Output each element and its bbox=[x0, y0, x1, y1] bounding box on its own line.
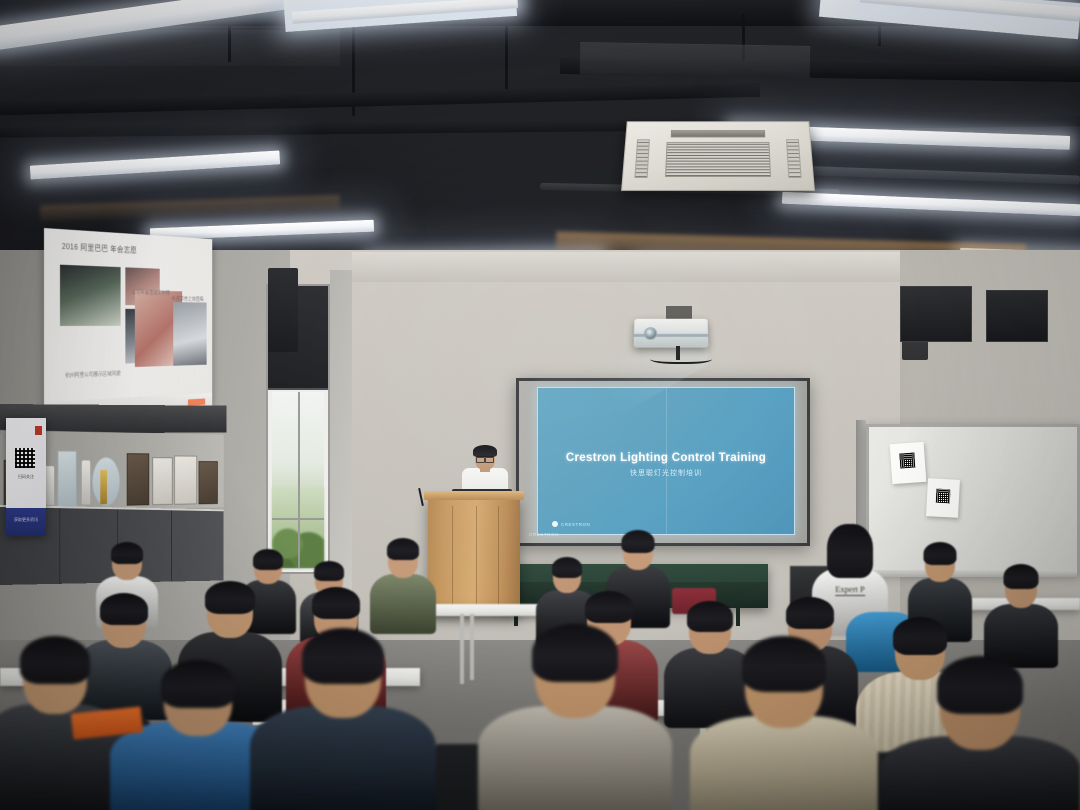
trophy bbox=[82, 460, 90, 504]
standee-line-2: 获取更多资讯 bbox=[6, 517, 46, 523]
person-hair bbox=[205, 581, 255, 614]
projector-cable bbox=[650, 352, 712, 364]
window-mullion bbox=[298, 392, 300, 568]
gold-trophy bbox=[100, 470, 107, 504]
person-torso bbox=[690, 716, 878, 810]
classroom-training-photo: 2016 阿里巴巴 年会志愿 公司年会活动工作照 年度荣誉之旅图集 杭州阿里公司… bbox=[0, 0, 1080, 810]
qr-code-icon bbox=[936, 489, 951, 504]
whiteboard[interactable] bbox=[866, 424, 1080, 574]
ceiling-light-tube bbox=[782, 192, 1080, 217]
framed-certificate bbox=[127, 453, 149, 505]
person-hair bbox=[786, 597, 834, 629]
person-hair bbox=[161, 660, 235, 708]
warm-ceiling-glow bbox=[40, 195, 340, 221]
glass-award bbox=[58, 451, 77, 507]
person-hair bbox=[687, 601, 733, 632]
person-hair bbox=[937, 656, 1023, 714]
ac-side-vent bbox=[634, 139, 650, 178]
board-watermark: CRESTRON bbox=[529, 532, 559, 537]
lectern-top bbox=[424, 491, 524, 500]
audience-member-front bbox=[478, 628, 672, 810]
person-hair bbox=[20, 636, 90, 684]
ceiling-beam bbox=[0, 83, 760, 116]
ceiling-duct bbox=[580, 42, 811, 78]
wall-column bbox=[330, 270, 352, 600]
window-mullion bbox=[272, 518, 324, 520]
person-hair bbox=[1004, 564, 1039, 589]
qr-code-icon bbox=[899, 453, 915, 469]
audience-member-front bbox=[250, 632, 436, 810]
ceiling-cassette-ac-unit bbox=[621, 121, 815, 191]
wooden-lectern bbox=[428, 498, 520, 616]
ceiling-projector bbox=[633, 319, 708, 348]
qr-code-icon bbox=[15, 448, 35, 468]
person-hair bbox=[552, 557, 582, 578]
slide-subtitle: 快思聪灯光控制培训 bbox=[538, 468, 794, 478]
ac-louver-bar bbox=[670, 130, 765, 137]
framed-certificate bbox=[199, 461, 218, 504]
poster-caption: 杭州阿里公司展示区域风貌 bbox=[65, 369, 120, 379]
slide-logo-label: CRESTRON bbox=[561, 522, 590, 527]
person-torso bbox=[478, 706, 672, 810]
audience-member-front bbox=[690, 640, 878, 810]
person-hair bbox=[111, 542, 143, 564]
wall-soffit bbox=[352, 252, 912, 282]
poster-caption: 公司年会活动工作照 bbox=[132, 288, 170, 296]
slide-title: Crestron Lighting Control Training bbox=[538, 452, 794, 464]
ac-side-vent bbox=[786, 139, 802, 178]
whiteboard-paper bbox=[890, 442, 927, 484]
person-hair bbox=[532, 624, 618, 682]
slide-logo: CRESTRON bbox=[552, 521, 590, 527]
projector-lens-icon bbox=[644, 327, 657, 340]
person-torso bbox=[250, 706, 436, 810]
poster-photo bbox=[60, 265, 121, 326]
person-hair bbox=[100, 593, 148, 625]
person-hair bbox=[924, 542, 957, 565]
framed-certificate bbox=[174, 455, 197, 504]
poster-photo bbox=[173, 302, 206, 366]
ceiling-light-tube bbox=[30, 150, 280, 179]
wall-poster: 2016 阿里巴巴 年会志愿 公司年会活动工作照 年度荣誉之旅图集 杭州阿里公司… bbox=[44, 228, 212, 418]
person-hair bbox=[827, 524, 873, 578]
standee-line-1: 扫码关注 bbox=[6, 474, 46, 480]
audience-member bbox=[984, 566, 1058, 666]
person-hair bbox=[253, 549, 283, 570]
crestron-logo-icon bbox=[552, 521, 558, 527]
glasses-icon bbox=[476, 456, 494, 460]
person-hair bbox=[387, 538, 419, 560]
audience-member-front bbox=[880, 660, 1080, 810]
projection-screen-board: Crestron Lighting Control Training 快思聪灯光… bbox=[516, 378, 810, 546]
ac-intake-grille bbox=[665, 142, 771, 177]
qr-standee: 扫码关注 获取更多资讯 bbox=[6, 418, 46, 536]
standee-accent-mark bbox=[35, 426, 42, 435]
person-hair bbox=[302, 628, 384, 684]
wall-panel bbox=[900, 286, 972, 342]
person-hair bbox=[314, 561, 344, 581]
person-hair bbox=[742, 636, 826, 692]
wall-panel bbox=[986, 290, 1048, 342]
projected-slide: Crestron Lighting Control Training 快思聪灯光… bbox=[537, 387, 795, 535]
poster-title: 2016 阿里巴巴 年会志愿 bbox=[62, 241, 137, 256]
person-hair bbox=[893, 617, 947, 655]
framed-certificate bbox=[152, 457, 172, 505]
person-hair bbox=[622, 530, 655, 553]
poster-caption: 年度荣誉之旅图集 bbox=[172, 295, 204, 303]
person-hair bbox=[312, 587, 360, 619]
person-hair bbox=[585, 591, 633, 623]
whiteboard-paper bbox=[926, 478, 960, 518]
wall-speaker bbox=[268, 268, 298, 352]
standee-band: 获取更多资讯 bbox=[6, 508, 46, 536]
